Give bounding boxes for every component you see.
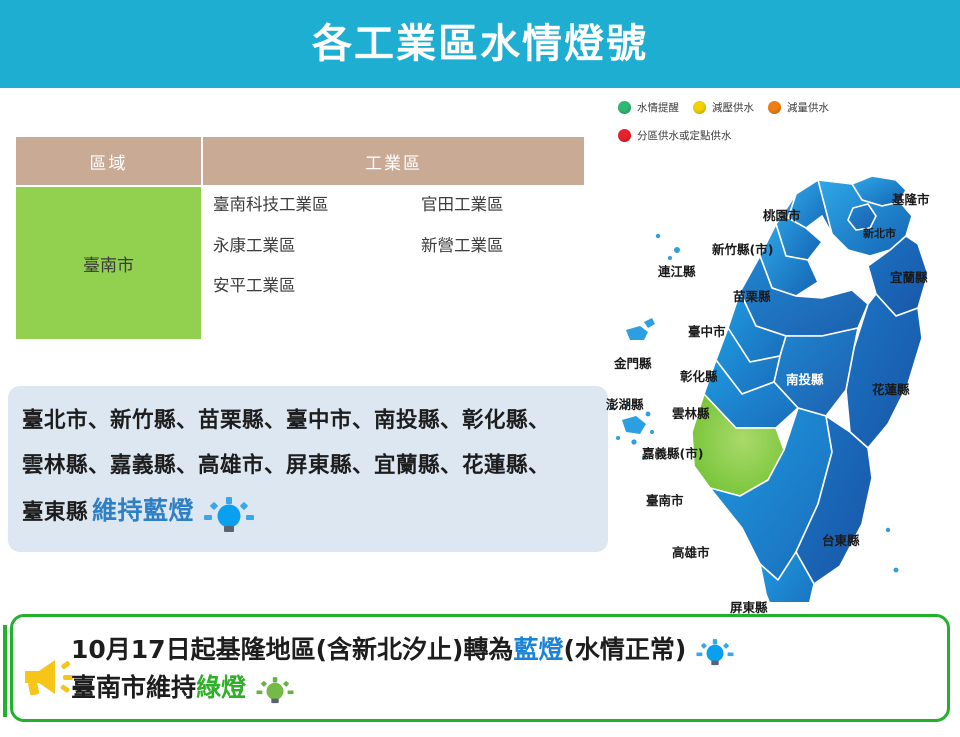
- notice-line-1-text-a: 10月17日起基隆地區(含新北汐止)轉為: [71, 635, 513, 664]
- blue-lightbulb-icon: [695, 635, 735, 667]
- legend-item: 水情提醒: [618, 100, 679, 115]
- zone-item: 永康工業區: [213, 236, 421, 257]
- cell-area-name: 臺南市: [16, 187, 201, 339]
- zone-grid: 臺南科技工業區 官田工業區 永康工業區 新營工業區 安平工業區: [213, 195, 584, 297]
- cell-zone-list: 臺南科技工業區 官田工業區 永康工業區 新營工業區 安平工業區: [203, 187, 584, 339]
- map-label-kinmen: 金門縣: [614, 358, 652, 371]
- zone-item: 安平工業區: [213, 276, 421, 297]
- notice-line-2-text-a: 臺南市維持: [71, 673, 196, 702]
- map-label-taitung: 台東縣: [822, 535, 860, 548]
- zone-item: 臺南科技工業區: [213, 195, 421, 216]
- column-header-zone: 工業區: [203, 137, 584, 185]
- map-label-chiayi: 嘉義縣(市): [642, 448, 703, 461]
- map-label-changhua: 彰化縣: [680, 371, 718, 384]
- legend-dot-green-icon: [618, 101, 631, 114]
- legend-row-1: 水情提醒 減壓供水 減量供水: [618, 96, 958, 118]
- map-label-hsinchu: 新竹縣(市): [712, 244, 773, 257]
- megaphone-icon: [21, 655, 77, 699]
- taiwan-map: 基隆市 桃園市 新北市 新竹縣(市) 連江縣 宜蘭縣 苗栗縣 臺中市 金門縣 彰…: [600, 132, 960, 602]
- legend-label: 水情提醒: [637, 100, 679, 115]
- legend-dot-orange-icon: [768, 101, 781, 114]
- map-label-keelung: 基隆市: [892, 194, 930, 207]
- table-row: 臺南市 臺南科技工業區 官田工業區 永康工業區 新營工業區 安平工業區: [16, 187, 584, 339]
- map-label-nantou: 南投縣: [786, 374, 824, 387]
- legend-label: 減壓供水: [712, 100, 754, 115]
- legend-dot-yellow-icon: [693, 101, 706, 114]
- notice-line-2: 臺南市維持綠燈: [71, 669, 735, 707]
- green-lightbulb-icon: [255, 673, 295, 705]
- map-label-new-taipei: 新北市: [863, 228, 896, 239]
- legend-item: 減量供水: [768, 100, 829, 115]
- blue-status-line-2: 雲林縣、嘉義縣、高雄市、屏東縣、宜蘭縣、花蓮縣、: [22, 443, 594, 488]
- map-panel: 水情提醒 減壓供水 減量供水 分區供水或定點供水: [600, 92, 960, 604]
- map-label-penghu: 澎湖縣: [606, 399, 644, 412]
- legend-label: 減量供水: [787, 100, 829, 115]
- notice-accent-bar: [3, 625, 7, 717]
- blue-status-prefix: 臺東縣: [22, 500, 88, 525]
- blue-status-line-3: 臺東縣維持藍燈: [22, 488, 594, 535]
- notice-box: 10月17日起基隆地區(含新北汐止)轉為藍燈(水情正常): [10, 614, 950, 722]
- notice-line-1-highlight: 藍燈: [513, 635, 563, 664]
- column-header-area: 區域: [16, 137, 201, 185]
- map-label-pingtung: 屏東縣: [730, 602, 768, 615]
- poster-root: 各工業區水情燈號 區域 工業區 臺南市 臺南科技工業區 官田工業區 永康工業區 …: [0, 0, 960, 737]
- blue-lightbulb-icon: [202, 493, 256, 533]
- legend-item: 減壓供水: [693, 100, 754, 115]
- blue-status-box: 臺北市、新竹縣、苗栗縣、臺中市、南投縣、彰化縣、 雲林縣、嘉義縣、高雄市、屏東縣…: [8, 386, 608, 552]
- notice-lines: 10月17日起基隆地區(含新北汐止)轉為藍燈(水情正常): [71, 631, 735, 707]
- zone-item: 官田工業區: [421, 195, 584, 216]
- map-label-yilan: 宜蘭縣: [890, 272, 928, 285]
- zone-item: 新營工業區: [421, 236, 584, 257]
- map-label-taichung: 臺中市: [688, 326, 726, 339]
- map-label-tainan: 臺南市: [646, 495, 684, 508]
- notice-line-1-text-b: (水情正常): [563, 635, 686, 664]
- notice-inner: 10月17日起基隆地區(含新北汐止)轉為藍燈(水情正常): [13, 617, 947, 719]
- map-label-miaoli: 苗栗縣: [733, 291, 771, 304]
- blue-status-label: 維持藍燈: [92, 496, 194, 525]
- notice-line-2-highlight: 綠燈: [196, 673, 246, 702]
- notice-line-1: 10月17日起基隆地區(含新北汐止)轉為藍燈(水情正常): [71, 631, 735, 669]
- map-label-hualien: 花蓮縣: [872, 384, 910, 397]
- map-label-taoyuan: 桃園市: [763, 210, 801, 223]
- map-label-lienchiang: 連江縣: [658, 266, 696, 279]
- table-header-row: 區域 工業區: [16, 137, 584, 185]
- blue-status-line-1: 臺北市、新竹縣、苗栗縣、臺中市、南投縣、彰化縣、: [22, 398, 594, 443]
- page-header: 各工業區水情燈號: [0, 0, 960, 88]
- industrial-zone-table: 區域 工業區 臺南市 臺南科技工業區 官田工業區 永康工業區 新營工業區 安平工…: [14, 135, 586, 341]
- map-label-kaohsiung: 高雄市: [672, 547, 710, 560]
- page-title: 各工業區水情燈號: [312, 24, 648, 64]
- map-label-yunlin: 雲林縣: [672, 408, 710, 421]
